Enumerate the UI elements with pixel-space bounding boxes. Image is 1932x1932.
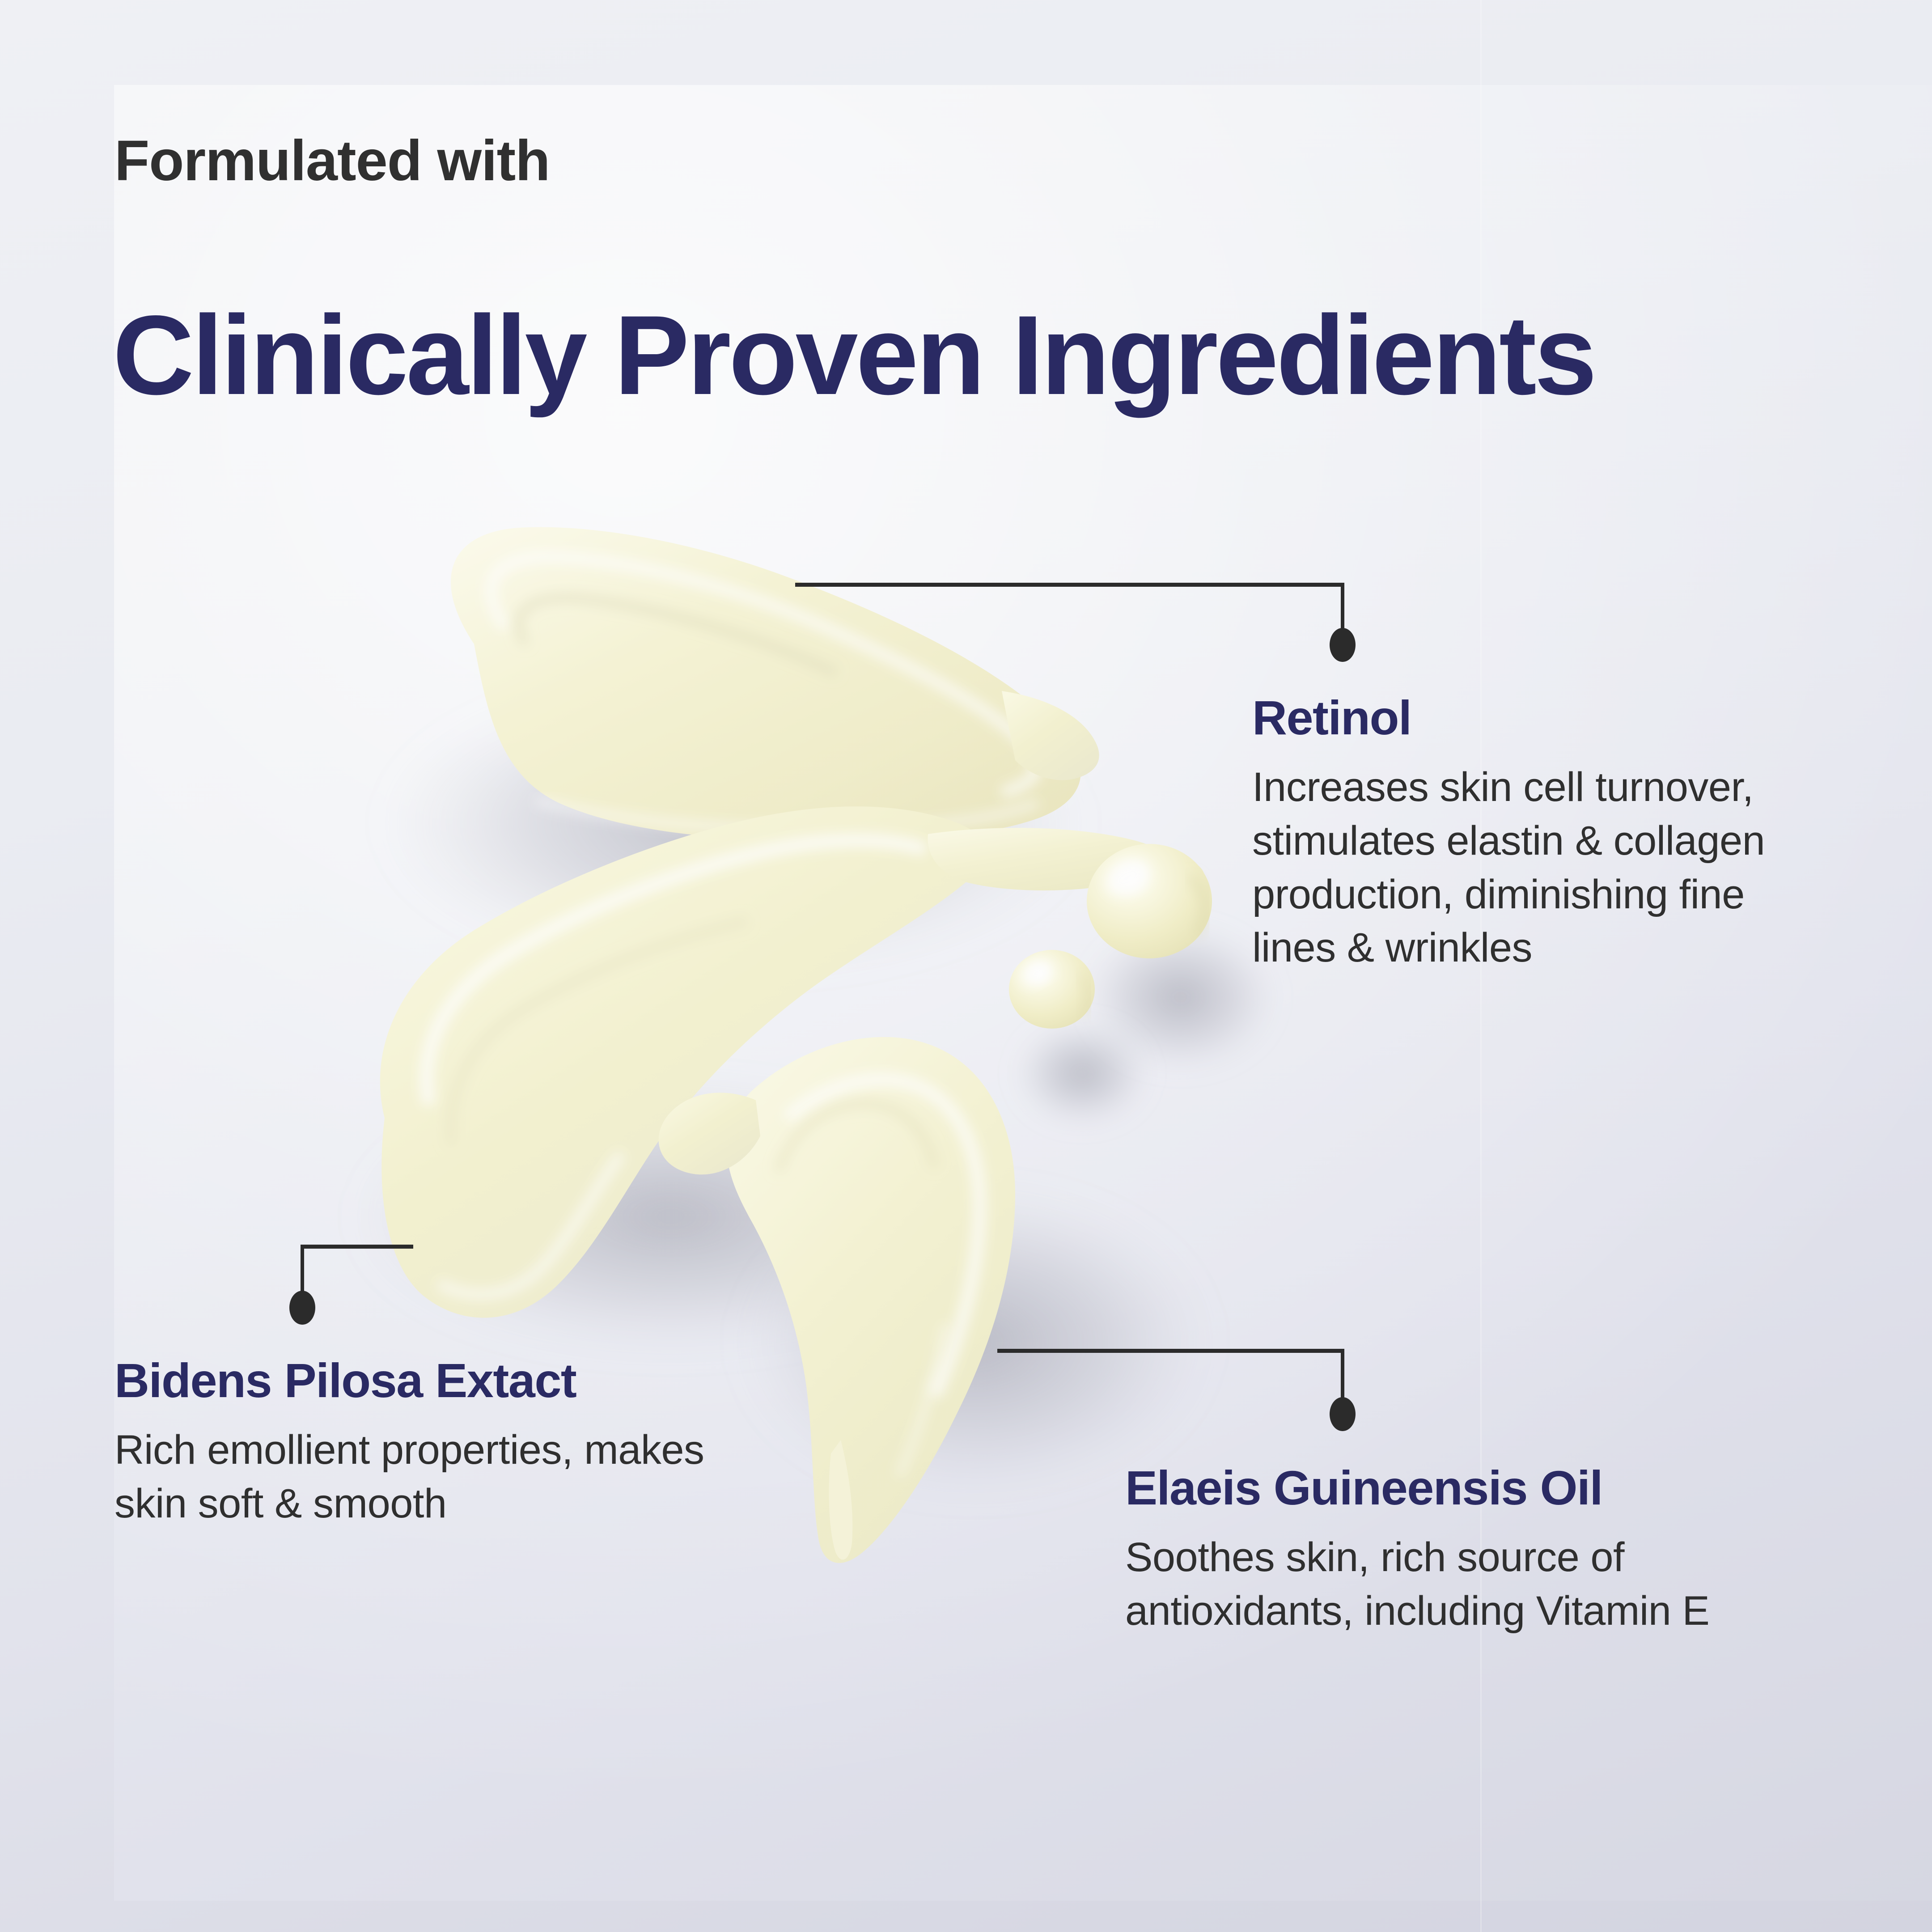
leader-dot <box>1330 628 1356 662</box>
ingredient-name: Elaeis Guineensis Oil <box>1125 1462 1805 1513</box>
ingredient-callout-retinol: Retinol Increases skin cell turnover, st… <box>1252 692 1834 975</box>
ingredient-name: Retinol <box>1252 692 1834 743</box>
leader-dot <box>1330 1397 1356 1431</box>
leader-horizontal-segment <box>301 1245 413 1249</box>
ingredient-infographic: Formulated with Clinically Proven Ingred… <box>0 0 1932 1932</box>
leader-dot <box>289 1291 315 1325</box>
ingredient-description: Soothes skin, rich source of antioxidant… <box>1125 1531 1805 1638</box>
kicker-text: Formulated with <box>114 132 550 190</box>
ingredient-callout-elaeis: Elaeis Guineensis Oil Soothes skin, rich… <box>1125 1462 1805 1638</box>
leader-horizontal-segment <box>795 583 1344 587</box>
ingredient-description: Increases skin cell turnover, stimulates… <box>1252 761 1834 974</box>
ingredient-name: Bidens Pilosa Extact <box>114 1355 785 1406</box>
ingredient-description: Rich emollient properties, makes skin so… <box>114 1424 785 1530</box>
leader-horizontal-segment <box>997 1349 1344 1353</box>
ingredient-callout-bidens: Bidens Pilosa Extact Rich emollient prop… <box>114 1355 785 1531</box>
page-title: Clinically Proven Ingredients <box>113 299 1595 412</box>
